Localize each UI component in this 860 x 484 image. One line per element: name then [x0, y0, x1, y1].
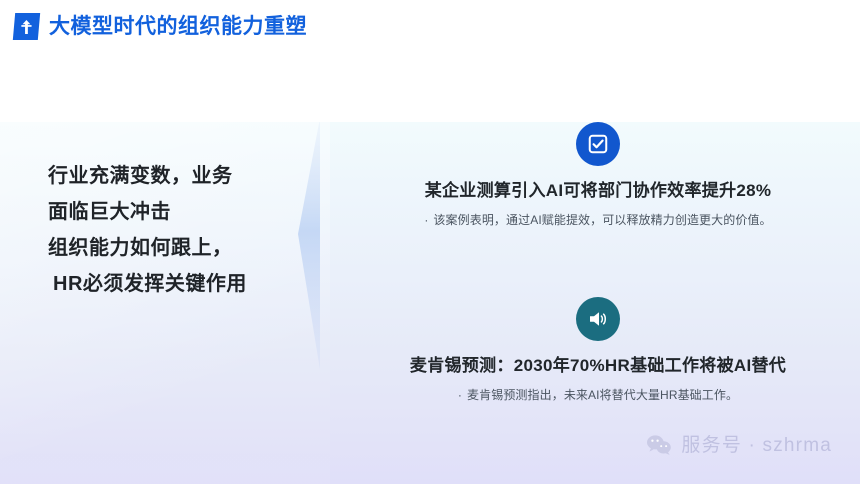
cards-column: 某企业测算引入AI可将部门协作效率提升28% ·该案例表明，通过AI赋能提效，可…	[336, 122, 860, 422]
card-ai-efficiency: 某企业测算引入AI可将部门协作效率提升28% ·该案例表明，通过AI赋能提效，可…	[336, 122, 860, 229]
card-bullet: ·该案例表明，通过AI赋能提效，可以释放精力创造更大的价值。	[336, 211, 860, 229]
bullet-marker: ·	[424, 211, 428, 229]
statement-line-4: HR必须发挥关键作用	[48, 266, 298, 302]
statement-line-1: 行业充满变数，业务	[48, 158, 298, 194]
card-mckinsey-forecast: 麦肯锡预测：2030年70%HR基础工作将被AI替代 ·麦肯锡预测指出，未来AI…	[336, 297, 860, 404]
card-bullet-text: 该案例表明，通过AI赋能提效，可以释放精力创造更大的价值。	[433, 213, 771, 227]
wechat-watermark: 服务号 · szhrma	[646, 434, 832, 456]
slide-header: 大模型时代的组织能力重塑	[0, 0, 860, 122]
speaker-volume-icon	[576, 297, 620, 341]
card-bullet-text: 麦肯锡预测指出，未来AI将替代大量HR基础工作。	[467, 388, 738, 402]
left-statement: 行业充满变数，业务 面临巨大冲击 组织能力如何跟上， HR必须发挥关键作用	[48, 158, 298, 302]
page-title: 大模型时代的组织能力重塑	[49, 16, 307, 37]
statement-line-2: 面临巨大冲击	[48, 194, 298, 230]
card-bullet: ·麦肯锡预测指出，未来AI将替代大量HR基础工作。	[336, 386, 860, 404]
slide-canvas: 行业充满变数，业务 面临巨大冲击 组织能力如何跟上， HR必须发挥关键作用 某企…	[0, 0, 860, 484]
statement-line-3: 组织能力如何跟上，	[48, 230, 298, 266]
wechat-icon	[646, 434, 672, 456]
checkbox-check-icon	[576, 122, 620, 166]
arrow-up-badge-icon	[13, 13, 40, 40]
bullet-marker: ·	[458, 386, 462, 404]
card-headline: 某企业测算引入AI可将部门协作效率提升28%	[336, 180, 860, 202]
watermark-text: 服务号 · szhrma	[681, 436, 832, 455]
title-row: 大模型时代的组织能力重塑	[14, 13, 307, 40]
card-headline: 麦肯锡预测：2030年70%HR基础工作将被AI替代	[336, 355, 860, 377]
